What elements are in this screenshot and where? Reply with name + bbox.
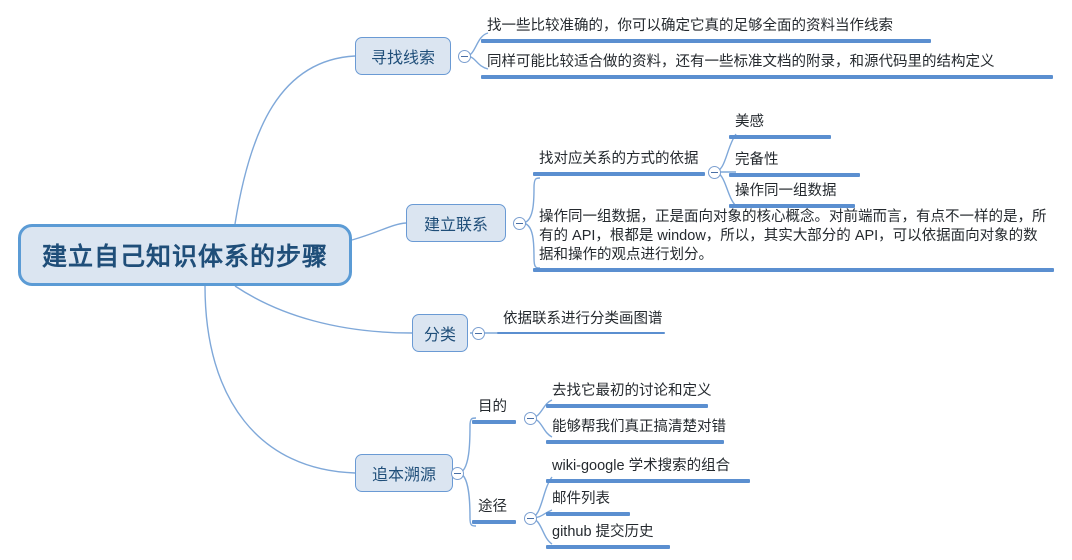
topic-underline bbox=[497, 332, 665, 334]
topic-underline bbox=[546, 545, 670, 549]
topic-text: wiki-google 学术搜索的组合 bbox=[546, 457, 750, 478]
branch-label: 追本溯源 bbox=[372, 461, 436, 485]
topic-underline bbox=[533, 172, 705, 176]
topic-text: 同样可能比较适合做的资料，还有一些标准文档的附录，和源代码里的结构定义 bbox=[481, 53, 1053, 74]
topic-text: 邮件列表 bbox=[546, 490, 630, 511]
root-node-label: 建立自己知识体系的步骤 bbox=[42, 237, 328, 273]
topic-text: 找一些比较准确的，你可以确定它真的足够全面的资料当作线索 bbox=[481, 17, 931, 38]
branch-node-xunzhaoxiansuo[interactable]: 寻找线索 bbox=[355, 37, 451, 75]
collapse-toggle-icon-b4-sub-2[interactable] bbox=[524, 512, 537, 525]
topic-b2-sub-2[interactable]: 操作同一组数据，正是面向对象的核心概念。对前端而言，有点不一样的是，所有的 AP… bbox=[533, 208, 1054, 272]
topic-b1-child-1[interactable]: 找一些比较准确的，你可以确定它真的足够全面的资料当作线索 bbox=[481, 17, 931, 43]
topic-underline bbox=[729, 135, 831, 139]
topic-text: 美感 bbox=[729, 113, 831, 134]
branch-node-zhuibensuyuan[interactable]: 追本溯源 bbox=[355, 454, 453, 492]
wire-root-to-branch-2 bbox=[352, 223, 406, 240]
topic-b4s2-child-2[interactable]: 邮件列表 bbox=[546, 490, 630, 516]
topic-b2-sub-1[interactable]: 找对应关系的方式的依据 bbox=[533, 150, 705, 176]
topic-underline bbox=[729, 173, 860, 177]
topic-underline bbox=[533, 268, 1054, 272]
topic-underline bbox=[546, 479, 750, 483]
branch-node-fenlei[interactable]: 分类 bbox=[412, 314, 468, 352]
topic-b4-sub-1[interactable]: 目的 bbox=[472, 398, 516, 424]
topic-b2-sub1-child-1[interactable]: 美感 bbox=[729, 113, 831, 139]
mindmap-canvas: 建立自己知识体系的步骤 寻找线索 找一些比较准确的，你可以确定它真的足够全面的资… bbox=[0, 0, 1072, 560]
topic-text: 找对应关系的方式的依据 bbox=[533, 150, 705, 171]
branch-label: 建立联系 bbox=[424, 211, 488, 235]
topic-text: 去找它最初的讨论和定义 bbox=[546, 382, 708, 403]
topic-b4s1-child-1[interactable]: 去找它最初的讨论和定义 bbox=[546, 382, 708, 408]
topic-underline bbox=[481, 39, 931, 43]
topic-b2-sub1-child-2[interactable]: 完备性 bbox=[729, 151, 860, 177]
topic-b4s2-child-3[interactable]: github 提交历史 bbox=[546, 523, 670, 549]
topic-b1-child-2[interactable]: 同样可能比较适合做的资料，还有一些标准文档的附录，和源代码里的结构定义 bbox=[481, 53, 1053, 79]
collapse-toggle-icon-branch-2[interactable] bbox=[513, 217, 526, 230]
topic-b4s1-child-2[interactable]: 能够帮我们真正搞清楚对错 bbox=[546, 418, 724, 444]
branch-label: 寻找线索 bbox=[371, 44, 435, 68]
root-node[interactable]: 建立自己知识体系的步骤 bbox=[18, 224, 352, 286]
topic-underline bbox=[472, 420, 516, 424]
topic-underline bbox=[546, 404, 708, 408]
topic-text: 依据联系进行分类画图谱 bbox=[497, 310, 665, 331]
collapse-toggle-icon-b2-sub-1[interactable] bbox=[708, 166, 721, 179]
topic-underline bbox=[481, 75, 1053, 79]
collapse-toggle-icon-branch-4[interactable] bbox=[451, 467, 464, 480]
topic-underline bbox=[546, 440, 724, 444]
topic-text: 操作同一组数据，正是面向对象的核心概念。对前端而言，有点不一样的是，所有的 AP… bbox=[533, 208, 1054, 267]
topic-text: 操作同一组数据 bbox=[729, 182, 855, 203]
topic-text: 目的 bbox=[472, 398, 516, 419]
collapse-toggle-icon-branch-3[interactable] bbox=[472, 327, 485, 340]
branch-label: 分类 bbox=[424, 321, 456, 345]
topic-text: github 提交历史 bbox=[546, 523, 670, 544]
topic-underline bbox=[472, 520, 516, 524]
collapse-toggle-icon-b4-sub-1[interactable] bbox=[524, 412, 537, 425]
topic-underline bbox=[546, 512, 630, 516]
topic-text: 完备性 bbox=[729, 151, 860, 172]
topic-text: 能够帮我们真正搞清楚对错 bbox=[546, 418, 724, 439]
topic-b4-sub-2[interactable]: 途径 bbox=[472, 498, 516, 524]
topic-text: 途径 bbox=[472, 498, 516, 519]
wire-root-to-branch-4 bbox=[205, 286, 355, 473]
topic-b3-child-1[interactable]: 依据联系进行分类画图谱 bbox=[497, 310, 665, 334]
topic-b2-sub1-child-3[interactable]: 操作同一组数据 bbox=[729, 182, 855, 208]
branch-node-jianlilianxi[interactable]: 建立联系 bbox=[406, 204, 506, 242]
wire-root-to-branch-3 bbox=[235, 286, 412, 333]
topic-b4s2-child-1[interactable]: wiki-google 学术搜索的组合 bbox=[546, 457, 750, 483]
wire-root-to-branch-1 bbox=[235, 56, 355, 224]
wire-b4-sub1-stem bbox=[458, 418, 476, 473]
collapse-toggle-icon-branch-1[interactable] bbox=[458, 50, 471, 63]
